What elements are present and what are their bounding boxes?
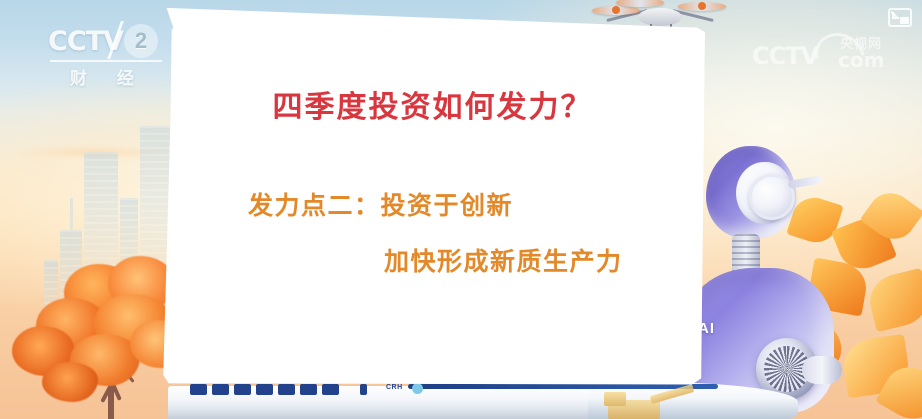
channel-logo-underline: [50, 60, 162, 62]
pip-arrow-glyph: [892, 11, 901, 20]
watermark-com: com: [838, 48, 884, 72]
broadcast-frame: AI CRH: [0, 0, 922, 419]
channel-logo-subtitle: 财 经: [70, 64, 146, 89]
card-line-2: 加快形成新质生产力: [384, 242, 623, 278]
channel-logo: CCTV 2 财 经: [48, 24, 178, 86]
picture-in-picture-icon[interactable]: [888, 8, 912, 27]
card-line-1: 发力点二：投资于创新: [248, 186, 513, 222]
channel-logo-number: 2: [124, 24, 158, 58]
card-title: 四季度投资如何发力？: [160, 82, 705, 126]
watermark-cctv: CCTV: [752, 42, 818, 70]
content-card-text: 四季度投资如何发力？ 发力点二：投资于创新 加快形成新质生产力: [160, 0, 705, 386]
pip-arrow-stem: [892, 12, 894, 19]
cctv-com-watermark: CCTV 央视网 com: [752, 36, 910, 76]
pip-inner-frame: [900, 17, 909, 24]
